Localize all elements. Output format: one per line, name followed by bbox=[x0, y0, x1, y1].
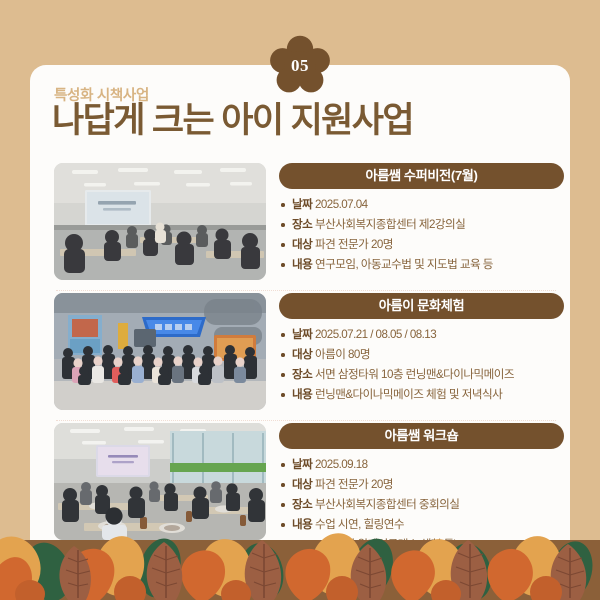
section-info: 아름쌤 수퍼비전(7월) 날짜 2025.07.04 장소 부산사회복지종합센터… bbox=[266, 163, 570, 275]
fact-row: 내용 연구모임, 아동교수법 및 지도법 교육 등 bbox=[279, 255, 564, 275]
fact-row: 날짜 2025.09.18 bbox=[279, 455, 564, 475]
fact-label: 날짜 bbox=[292, 458, 312, 471]
fact-label: 내용 bbox=[292, 258, 312, 271]
fact-value: 아름이 80명 bbox=[315, 348, 370, 361]
fact-value: 서면 삼정타워 10층 런닝맨&다이나믹메이즈 bbox=[315, 368, 514, 381]
facts-list: 날짜 2025.07.04 장소 부산사회복지종합센터 제2강의실 대상 파견 … bbox=[279, 195, 564, 275]
fact-value: 2025.07.04 bbox=[315, 198, 368, 211]
section-pill: 아름쌤 수퍼비전(7월) bbox=[279, 163, 564, 189]
fact-value: 2025.09.18 bbox=[315, 458, 368, 471]
fact-row: 내용 런닝맨&다이나믹메이즈 체험 및 저녁식사 bbox=[279, 385, 564, 405]
facts-list: 날짜 2025.07.21 / 08.05 / 08.13 대상 아름이 80명… bbox=[279, 325, 564, 405]
section-supervision: 아름쌤 수퍼비전(7월) 날짜 2025.07.04 장소 부산사회복지종합센터… bbox=[30, 163, 570, 293]
fact-label: 대상 bbox=[292, 238, 312, 251]
fact-value: 런닝맨&다이나믹메이즈 체험 및 저녁식사 bbox=[315, 388, 502, 401]
fact-row: 대상 파견 전문가 20명 bbox=[279, 475, 564, 495]
section-pill: 아름이 문화체험 bbox=[279, 293, 564, 319]
fact-row: 날짜 2025.07.04 bbox=[279, 195, 564, 215]
fact-row: 날짜 2025.07.21 / 08.05 / 08.13 bbox=[279, 325, 564, 345]
fact-row: 장소 부산사회복지종합센터 제2강의실 bbox=[279, 215, 564, 235]
fact-value: 파견 전문가 20명 bbox=[315, 478, 393, 491]
fact-label: 날짜 bbox=[292, 198, 312, 211]
fact-value: 부산사회복지종합센터 제2강의실 bbox=[315, 218, 465, 231]
sections-list: 아름쌤 수퍼비전(7월) 날짜 2025.07.04 장소 부산사회복지종합센터… bbox=[30, 163, 570, 545]
fact-row: 대상 파견 전문가 20명 bbox=[279, 235, 564, 255]
photo-cultural-experience-group bbox=[54, 293, 266, 410]
section-pill: 아름쌤 워크숍 bbox=[279, 423, 564, 449]
poster-root: 05 특성화 시책사업 나답게 크는 아이 지원사업 bbox=[0, 0, 600, 600]
content-card: 특성화 시책사업 나답게 크는 아이 지원사업 bbox=[30, 65, 570, 545]
fact-label: 대상 bbox=[292, 478, 312, 491]
autumn-leaves-decoration bbox=[0, 510, 600, 600]
fact-label: 장소 bbox=[292, 368, 312, 381]
fact-label: 장소 bbox=[292, 218, 312, 231]
fact-value: 파견 전문가 20명 bbox=[315, 238, 393, 251]
page-title: 나답게 크는 아이 지원사업 bbox=[52, 101, 413, 141]
section-info: 아름이 문화체험 날짜 2025.07.21 / 08.05 / 08.13 대… bbox=[266, 293, 570, 405]
fact-label: 날짜 bbox=[292, 328, 312, 341]
fact-value: 연구모임, 아동교수법 및 지도법 교육 등 bbox=[315, 258, 493, 271]
fact-value: 2025.07.21 / 08.05 / 08.13 bbox=[315, 328, 436, 341]
photo-supervision-lecture-room bbox=[54, 163, 266, 280]
section-cultural-experience: 아름이 문화체험 날짜 2025.07.21 / 08.05 / 08.13 대… bbox=[30, 293, 570, 423]
fact-label: 내용 bbox=[292, 388, 312, 401]
fact-label: 대상 bbox=[292, 348, 312, 361]
fact-row: 장소 서면 삼정타워 10층 런닝맨&다이나믹메이즈 bbox=[279, 365, 564, 385]
fact-row: 대상 아름이 80명 bbox=[279, 345, 564, 365]
